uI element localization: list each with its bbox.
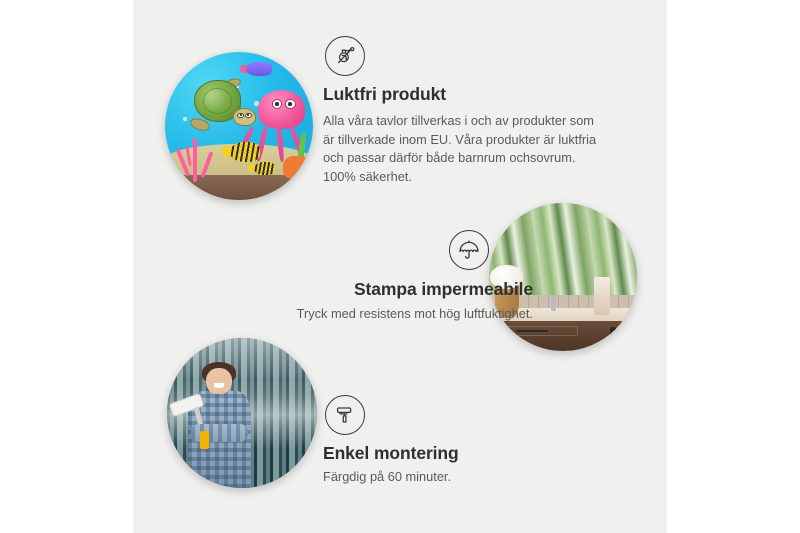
paint-roller-icon [325,395,365,435]
content-panel: Luktfri produkt Alla våra tavlor tillver… [133,0,667,533]
faucet-icon [551,295,555,311]
sea-turtle-icon [189,77,254,130]
fish-striped-icon [230,142,260,161]
feature-title: Stampa impermeabile [193,279,533,300]
feature-title: Enkel montering [323,443,623,464]
wood-vanity-cabinet [489,321,637,351]
feature-easy-mounting: Enkel montering Färgdig på 60 minuter. [323,395,623,487]
face [206,368,232,394]
feature-description: Färgdig på 60 minuter. [323,468,623,487]
coral-icon [174,138,218,182]
no-fragrance-spray-icon [325,36,365,76]
photo-underwater-scene [165,52,313,200]
underwater-illustration [165,52,313,200]
feature-odour-free: Luktfri produkt Alla våra tavlor tillver… [323,36,623,187]
forest-illustration [167,338,317,488]
hand-tool-icon [200,431,209,449]
feature-waterproof-print: Stampa impermeabile Tryck med resistens … [193,230,533,324]
feature-icon-wrap [193,230,533,270]
feature-description: Tryck med resistens mot hög luftfuktighe… [193,305,533,324]
soap-bottle-icon [594,277,610,315]
bubble-icon [183,117,187,121]
feature-title: Luktfri produkt [323,84,623,105]
umbrella-icon [449,230,489,270]
photo-forest-mural-installer [167,338,317,488]
feature-description: Alla våra tavlor tillverkas i och av pro… [323,112,608,187]
smile [214,383,225,388]
screenshot-stage: Luktfri produkt Alla våra tavlor tillver… [0,0,800,533]
fish-purple-icon [246,62,271,75]
starfish-icon [283,156,310,180]
fish-striped-small-icon [254,162,275,175]
